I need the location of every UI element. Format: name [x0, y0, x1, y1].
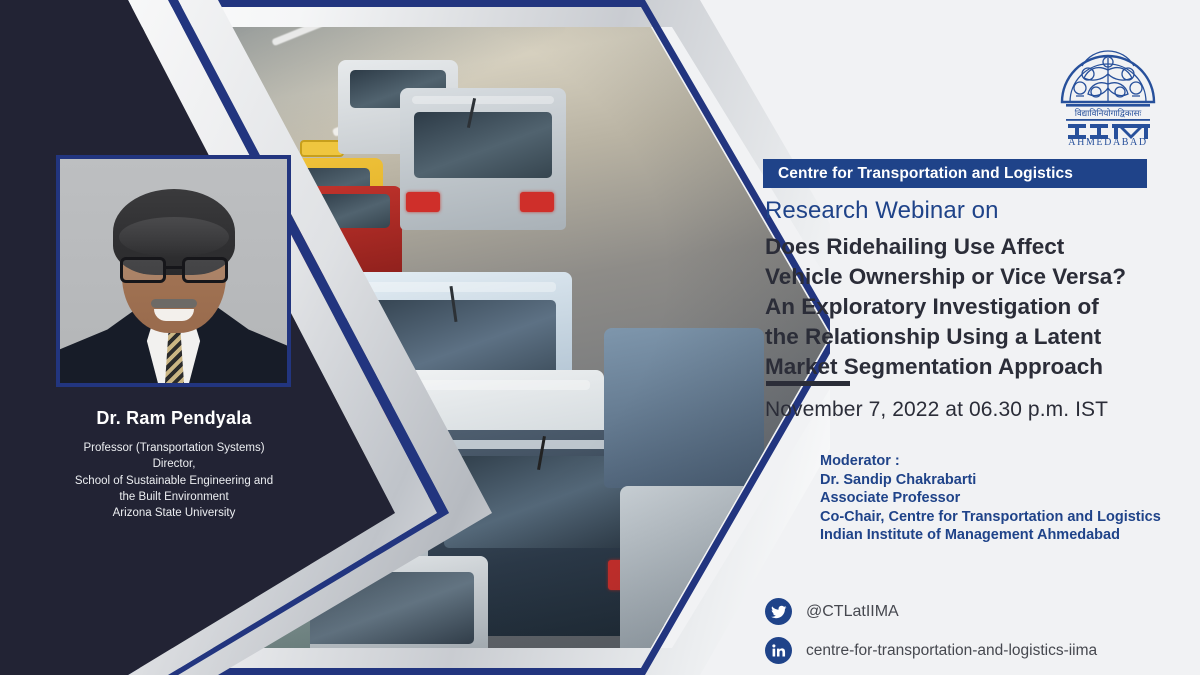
- smile-shape: [154, 309, 194, 321]
- logo-sanskrit-text: विद्याविनियोगाद्विकासः: [1075, 108, 1142, 119]
- speaker-photo-frame: [56, 155, 291, 387]
- speaker-affiliation-line: School of Sustainable Engineering and: [0, 473, 348, 489]
- twitter-link[interactable]: @CTLatIIMA: [765, 598, 1195, 625]
- speaker-affiliation-line: Director,: [0, 456, 348, 472]
- centre-banner: Centre for Transportation and Logistics: [763, 159, 1147, 188]
- title-line: Does Ridehailing Use Affect: [765, 232, 1185, 262]
- moderator-institution: Indian Institute of Management Ahmedabad: [820, 526, 1200, 545]
- eyeglasses-icon: [120, 257, 228, 283]
- twitter-handle[interactable]: @CTLatIIMA: [806, 603, 899, 621]
- twitter-bird-icon[interactable]: [765, 598, 792, 625]
- speaker-affiliation-line: the Built Environment: [0, 489, 348, 505]
- speaker-portrait: [60, 159, 287, 383]
- moderator-designation: Associate Professor: [820, 489, 1200, 508]
- title-line: the Relationship Using a Latent: [765, 322, 1185, 352]
- webinar-kicker: Research Webinar on: [765, 197, 999, 225]
- title-divider: [766, 381, 850, 386]
- webinar-title: Does Ridehailing Use Affect Vehicle Owne…: [765, 232, 1185, 382]
- moderator-block: Moderator : Dr. Sandip Chakrabarti Assoc…: [820, 452, 1200, 545]
- speaker-name: Dr. Ram Pendyala: [0, 408, 348, 429]
- moderator-name: Dr. Sandip Chakrabarti: [820, 471, 1200, 490]
- logo-city-text: AHMEDABAD: [1068, 137, 1147, 146]
- title-line: Vehicle Ownership or Vice Versa?: [765, 262, 1185, 292]
- title-line: Market Segmentation Approach: [765, 352, 1185, 382]
- speaker-affiliation-line: Professor (Transportation Systems): [0, 440, 348, 456]
- webinar-poster: Dr. Ram Pendyala Professor (Transportati…: [0, 0, 1200, 675]
- content-panel: विद्याविनियोगाद्विकासः AHMEDABAD Centre …: [762, 0, 1200, 675]
- iim-ahmedabad-logo: विद्याविनियोगाद्विकासः AHMEDABAD: [1052, 36, 1164, 146]
- moderator-role: Co-Chair, Centre for Transportation and …: [820, 508, 1200, 527]
- speaker-affiliation: Professor (Transportation Systems) Direc…: [0, 440, 348, 522]
- moderator-label: Moderator :: [820, 452, 1200, 471]
- title-line: An Exploratory Investigation of: [765, 292, 1185, 322]
- linkedin-link[interactable]: centre-for-transportation-and-logistics-…: [765, 637, 1195, 664]
- speaker-details: Dr. Ram Pendyala Professor (Transportati…: [0, 408, 348, 522]
- social-links: @CTLatIIMA centre-for-transportation-and…: [765, 598, 1195, 675]
- linkedin-in-icon[interactable]: [765, 637, 792, 664]
- linkedin-handle[interactable]: centre-for-transportation-and-logistics-…: [806, 642, 1097, 660]
- speaker-affiliation-line: Arizona State University: [0, 505, 348, 521]
- moustache-shape: [151, 299, 197, 308]
- event-datetime: November 7, 2022 at 06.30 p.m. IST: [765, 398, 1108, 422]
